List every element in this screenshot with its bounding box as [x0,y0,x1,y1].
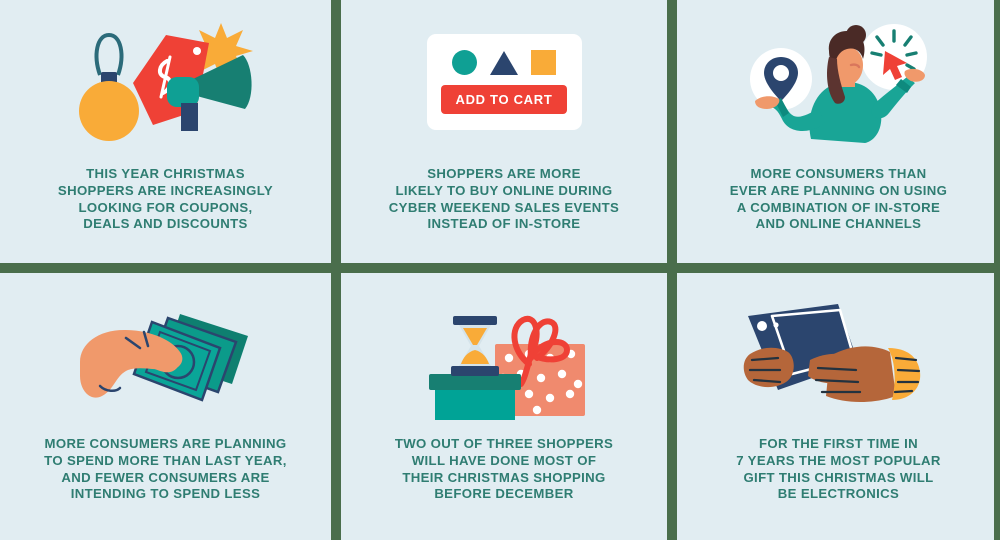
panel-caption: FOR THE FIRST TIME IN 7 YEARS THE MOST P… [722,436,955,503]
christmas-ornament-price-tag-megaphone-icon [0,12,331,152]
panel-caption: MORE CONSUMERS ARE PLANNING TO SPEND MOR… [30,436,301,503]
square-shape-icon [531,50,556,75]
shape-row [452,50,556,75]
panel-buy-online-cyber-weekend: ADD TO CART SHOPPERS ARE MORE LIKELY TO … [341,0,667,263]
horizontal-divider [0,263,1000,273]
hourglass-and-gift-boxes-icon [341,291,667,426]
triangle-shape-icon [490,51,518,75]
infographic-board: THIS YEAR CHRISTMAS SHOPPERS ARE INCREAS… [0,0,1000,540]
panel-in-store-and-online-channels: MORE CONSUMERS THAN EVER ARE PLANNING ON… [677,0,1000,263]
panel-spend-more-than-last-year: MORE CONSUMERS ARE PLANNING TO SPEND MOR… [0,273,331,540]
add-to-cart-card-icon: ADD TO CART [341,12,667,152]
woman-holding-location-pin-and-cursor-icon [677,12,1000,152]
panel-caption: SHOPPERS ARE MORE LIKELY TO BUY ONLINE D… [375,166,633,233]
panel-caption: MORE CONSUMERS THAN EVER ARE PLANNING ON… [716,166,961,233]
hands-holding-tablet-icon [677,291,1000,426]
add-to-cart-button[interactable]: ADD TO CART [441,85,566,114]
hand-holding-banknotes-icon [0,291,331,426]
panel-shopping-before-december: TWO OUT OF THREE SHOPPERS WILL HAVE DONE… [341,273,667,540]
circle-shape-icon [452,50,477,75]
panel-caption: THIS YEAR CHRISTMAS SHOPPERS ARE INCREAS… [44,166,287,233]
panel-most-popular-gift-electronics: FOR THE FIRST TIME IN 7 YEARS THE MOST P… [677,273,1000,540]
panel-caption: TWO OUT OF THREE SHOPPERS WILL HAVE DONE… [381,436,627,503]
panel-coupons-deals-discounts: THIS YEAR CHRISTMAS SHOPPERS ARE INCREAS… [0,0,331,263]
product-card: ADD TO CART [427,34,582,130]
